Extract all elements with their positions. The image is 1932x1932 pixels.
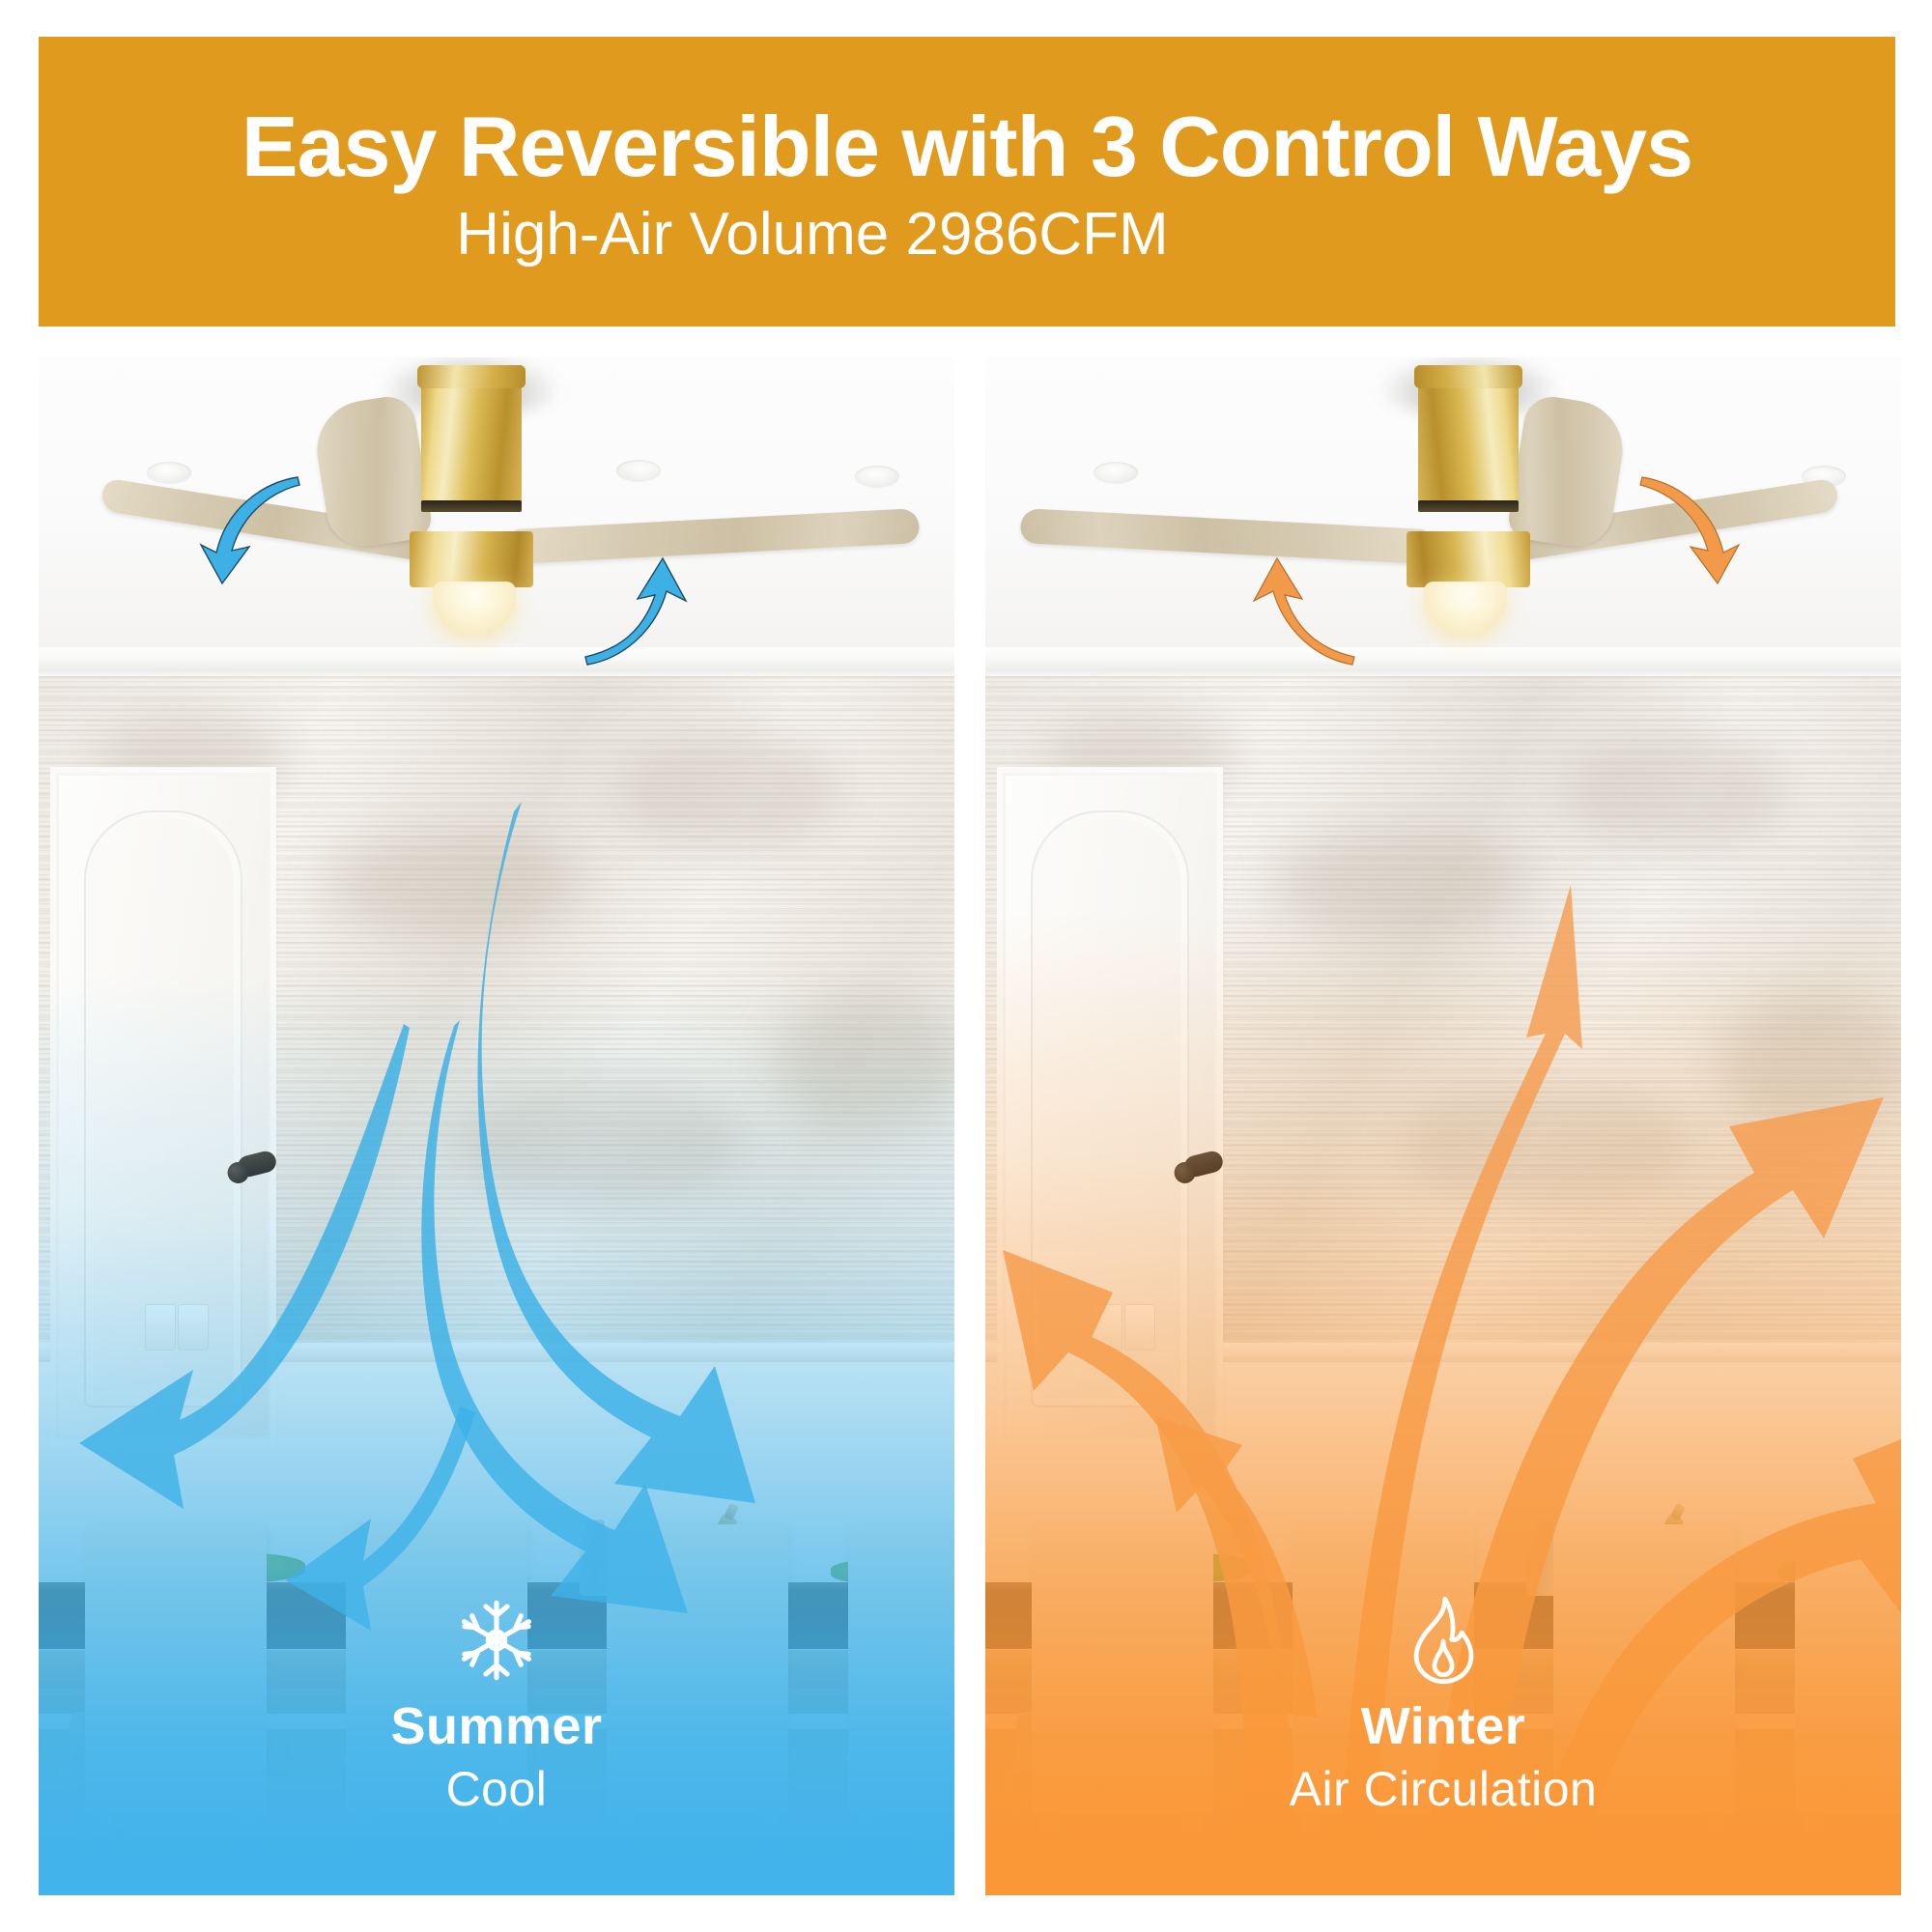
fan-blade <box>1020 508 1427 564</box>
banner-subtitle: High-Air Volume 2986CFM <box>456 203 1168 266</box>
light-switch <box>1092 1304 1122 1350</box>
season-subtitle: Cool <box>39 1763 954 1816</box>
season-label-winter: Winter Air Circulation <box>985 1596 1901 1816</box>
rotation-arrow-down-icon <box>184 469 309 585</box>
infographic-stage: Easy Reversible with 3 Control Ways High… <box>0 0 1932 1932</box>
fan-hub <box>410 531 533 587</box>
fan-light-kit <box>1424 582 1507 634</box>
season-subtitle: Air Circulation <box>985 1763 1901 1816</box>
ceiling-fan-winter <box>985 357 1901 676</box>
snowflake-icon <box>39 1596 954 1685</box>
light-switch <box>145 1304 176 1350</box>
banner-title: Easy Reversible with 3 Control Ways <box>241 103 1692 190</box>
light-switch <box>178 1304 209 1350</box>
header-banner: Easy Reversible with 3 Control Ways High… <box>39 37 1895 327</box>
fan-light-kit <box>433 582 516 634</box>
light-switch <box>1124 1304 1155 1350</box>
fan-motor-housing <box>421 371 522 504</box>
rotation-arrow-down-icon <box>1235 547 1360 672</box>
panel-summer: TOM FORD <box>39 357 954 1895</box>
rotation-arrow-up-icon <box>580 547 705 672</box>
comparison-panels: TOM FORD <box>39 357 1901 1895</box>
fan-motor-housing <box>1418 371 1519 504</box>
panel-winter: TOM FORD <box>985 357 1901 1895</box>
flame-icon <box>985 1596 1901 1685</box>
fan-hub <box>1406 531 1530 587</box>
season-title: Summer <box>39 1698 954 1755</box>
rotation-arrow-up-icon <box>1631 469 1756 585</box>
ceiling-fan-summer <box>39 357 954 676</box>
season-title: Winter <box>985 1698 1901 1755</box>
fan-blade <box>513 508 920 564</box>
season-label-summer: Summer Cool <box>39 1596 954 1816</box>
